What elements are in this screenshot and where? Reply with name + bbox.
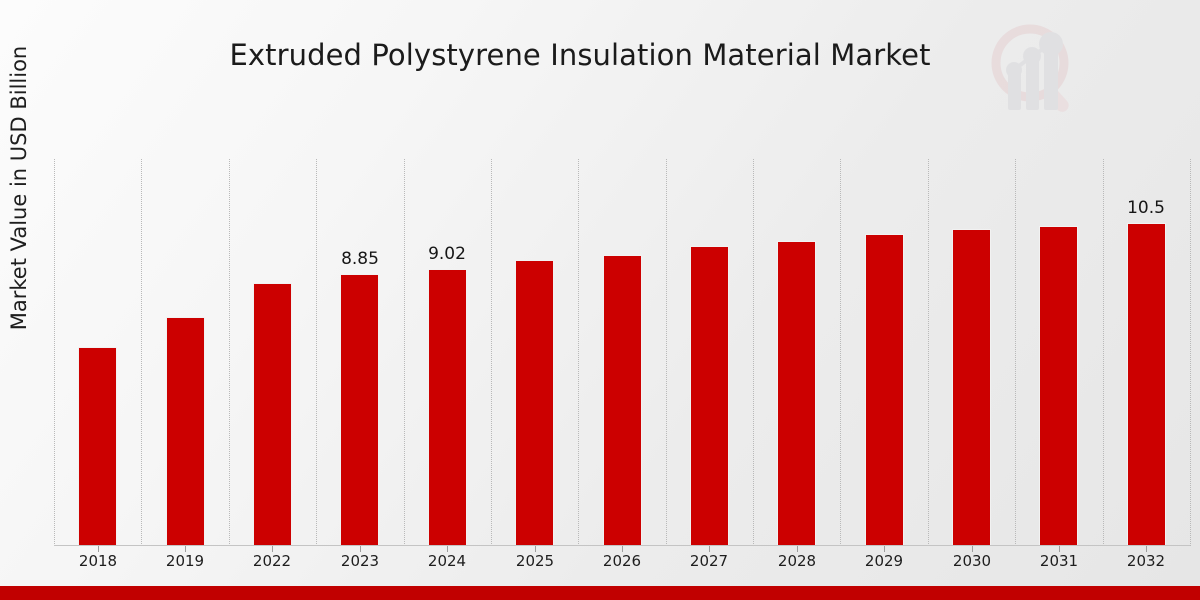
gridline	[141, 159, 142, 546]
gridline	[54, 159, 55, 546]
bar-2022[interactable]	[253, 283, 292, 545]
gridline	[753, 159, 754, 546]
gridline	[1015, 159, 1016, 546]
x-tick-label-2023: 2023	[315, 552, 405, 570]
gridline	[491, 159, 492, 546]
x-tick-label-2031: 2031	[1014, 552, 1104, 570]
bar-2027[interactable]	[690, 246, 729, 545]
gridline	[229, 159, 230, 546]
bar-2018[interactable]	[78, 347, 117, 545]
x-tick-label-2028: 2028	[752, 552, 842, 570]
x-tick-label-2026: 2026	[577, 552, 667, 570]
gridline	[666, 159, 667, 546]
gridline	[404, 159, 405, 546]
bar-2032[interactable]	[1127, 223, 1166, 545]
bar-2031[interactable]	[1039, 226, 1078, 545]
bar-2019[interactable]	[166, 317, 205, 545]
x-tick-label-2019: 2019	[140, 552, 230, 570]
x-tick-label-2029: 2029	[839, 552, 929, 570]
bar-value-label-2024: 9.02	[397, 244, 497, 264]
footer-accent-bar	[0, 586, 1200, 600]
x-tick-label-2025: 2025	[490, 552, 580, 570]
chart-container: Extruded Polystyrene Insulation Material…	[0, 0, 1200, 600]
x-tick-label-2018: 2018	[53, 552, 143, 570]
x-tick-label-2032: 2032	[1101, 552, 1191, 570]
x-tick-label-2022: 2022	[227, 552, 317, 570]
bar-2029[interactable]	[865, 234, 904, 545]
x-tick-label-2027: 2027	[664, 552, 754, 570]
bar-2024[interactable]	[428, 269, 467, 545]
x-tick-label-2024: 2024	[402, 552, 492, 570]
bar-2025[interactable]	[515, 260, 554, 545]
gridline	[840, 159, 841, 546]
x-tick-label-2030: 2030	[927, 552, 1017, 570]
bar-value-label-2023: 8.85	[310, 249, 410, 269]
bar-2030[interactable]	[952, 229, 991, 545]
gridline	[578, 159, 579, 546]
bar-2028[interactable]	[777, 241, 816, 545]
gridline	[928, 159, 929, 546]
market-research-magnifier-logo	[982, 18, 1086, 118]
bar-value-label-2032: 10.5	[1096, 198, 1196, 218]
bar-2026[interactable]	[603, 255, 642, 545]
bar-2023[interactable]	[340, 274, 379, 545]
y-axis-label: Market Value in USD Billion	[7, 0, 33, 378]
gridline	[316, 159, 317, 546]
